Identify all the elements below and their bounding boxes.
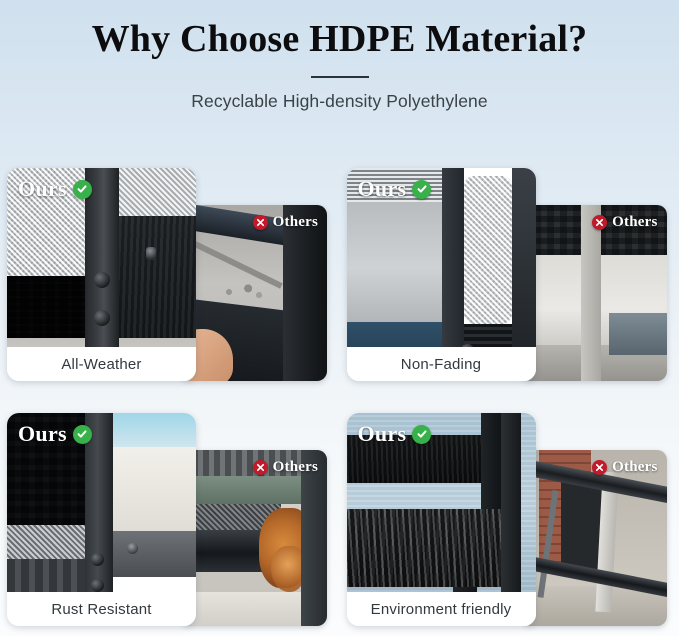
green-check-badge-icon bbox=[412, 180, 431, 199]
ours-panel: Ours Rust Resistant bbox=[7, 413, 196, 626]
ours-photo: Ours bbox=[7, 168, 196, 347]
others-panel: Others bbox=[181, 450, 327, 626]
green-check-badge-icon bbox=[73, 425, 92, 444]
ours-photo: Ours bbox=[347, 168, 536, 347]
others-badge: Others bbox=[253, 214, 318, 231]
card-caption-bar: Environment friendly bbox=[347, 592, 536, 626]
comparison-card-rust-resistant[interactable]: Others Ours Rust Resistant bbox=[0, 405, 340, 636]
ours-panel: Ours Environment friendly bbox=[347, 413, 536, 626]
ours-label: Ours bbox=[18, 421, 67, 447]
others-photo bbox=[521, 205, 667, 381]
card-caption: All-Weather bbox=[61, 356, 141, 373]
others-photo bbox=[521, 450, 667, 626]
page-title: Why Choose HDPE Material? bbox=[0, 18, 679, 62]
comparison-card-non-fading[interactable]: Others Ours Non-Fading bbox=[340, 160, 679, 405]
card-caption-bar: Non-Fading bbox=[347, 347, 536, 381]
comparison-card-environment-friendly[interactable]: Others Ours Environment friendly bbox=[340, 405, 679, 636]
others-panel: Others bbox=[521, 450, 667, 626]
green-check-badge-icon bbox=[412, 425, 431, 444]
card-caption: Non-Fading bbox=[401, 356, 481, 373]
page-subtitle: Recyclable High-density Polyethylene bbox=[0, 91, 679, 112]
red-cross-badge-icon bbox=[253, 460, 268, 475]
comparison-cards-grid: Others Ours All-Weather bbox=[0, 160, 679, 636]
ours-badge: Ours bbox=[18, 421, 92, 447]
others-label: Others bbox=[612, 214, 657, 231]
ours-label: Ours bbox=[358, 421, 407, 447]
page-header: Why Choose HDPE Material? Recyclable Hig… bbox=[0, 0, 679, 112]
title-divider bbox=[311, 76, 369, 78]
others-photo bbox=[181, 450, 327, 626]
others-label: Others bbox=[273, 214, 318, 231]
others-panel: Others bbox=[521, 205, 667, 381]
ours-label: Ours bbox=[358, 176, 407, 202]
ours-photo: Ours bbox=[347, 413, 536, 592]
green-check-badge-icon bbox=[73, 180, 92, 199]
card-caption-bar: All-Weather bbox=[7, 347, 196, 381]
ours-panel: Ours All-Weather bbox=[7, 168, 196, 381]
others-photo bbox=[181, 205, 327, 381]
others-label: Others bbox=[612, 459, 657, 476]
card-caption-bar: Rust Resistant bbox=[7, 592, 196, 626]
others-badge: Others bbox=[253, 459, 318, 476]
red-cross-badge-icon bbox=[592, 215, 607, 230]
red-cross-badge-icon bbox=[592, 460, 607, 475]
card-caption: Environment friendly bbox=[371, 601, 512, 618]
card-caption: Rust Resistant bbox=[51, 601, 151, 618]
ours-panel: Ours Non-Fading bbox=[347, 168, 536, 381]
ours-badge: Ours bbox=[18, 176, 92, 202]
ours-badge: Ours bbox=[358, 421, 432, 447]
ours-badge: Ours bbox=[358, 176, 432, 202]
ours-label: Ours bbox=[18, 176, 67, 202]
others-label: Others bbox=[273, 459, 318, 476]
red-cross-badge-icon bbox=[253, 215, 268, 230]
others-panel: Others bbox=[181, 205, 327, 381]
others-badge: Others bbox=[592, 459, 657, 476]
comparison-card-all-weather[interactable]: Others Ours All-Weather bbox=[0, 160, 340, 405]
others-badge: Others bbox=[592, 214, 657, 231]
ours-photo: Ours bbox=[7, 413, 196, 592]
